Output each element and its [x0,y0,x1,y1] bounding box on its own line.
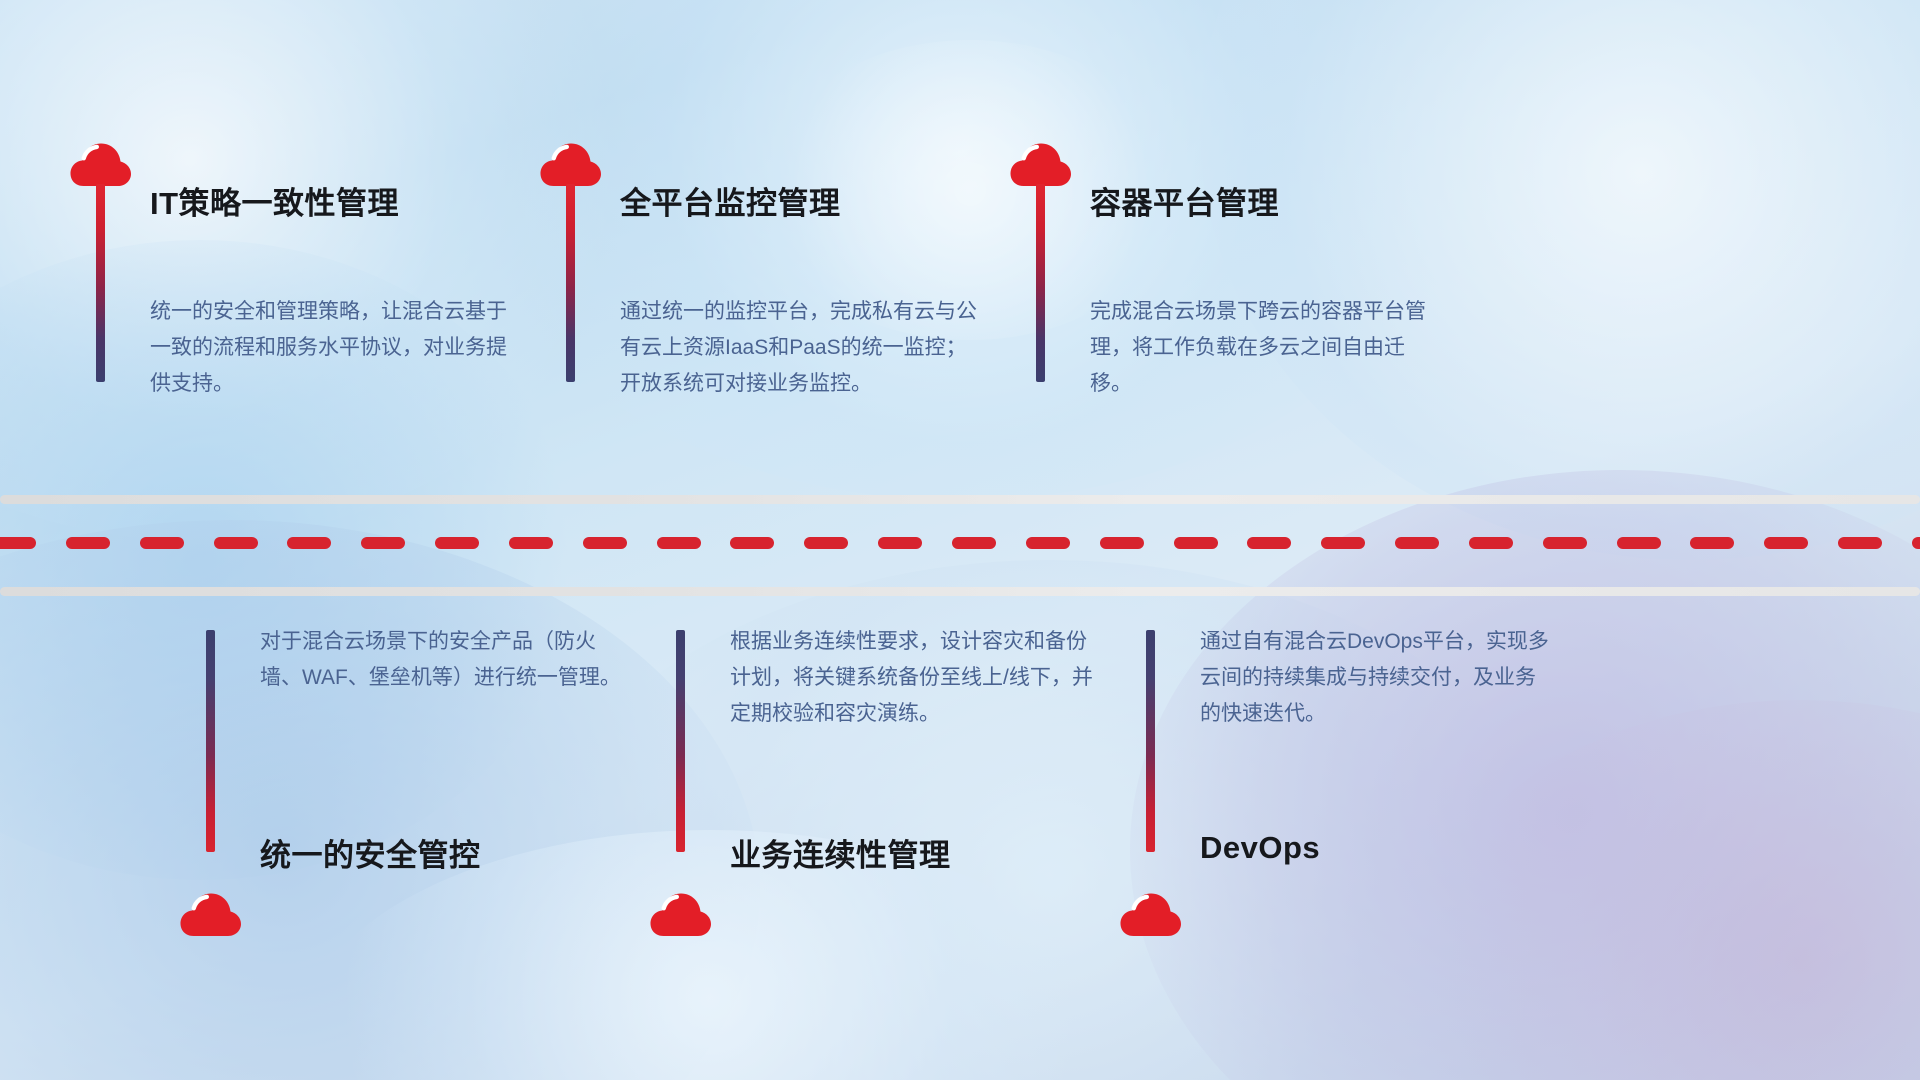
infographic-canvas: IT策略一致性管理 统一的安全和管理策略，让混合云基于一致的流程和服务水平协议，… [0,0,1920,1080]
divider [0,487,1920,597]
background-blob [1420,700,1920,1080]
cloud-icon [180,890,242,938]
cloud-icon [650,890,712,938]
feature-description: 对于混合云场景下的安全产品（防火墙、WAF、堡垒机等）进行统一管理。 [260,624,626,696]
divider-dash [1100,537,1144,549]
divider-dash [0,537,36,549]
divider-dash [1764,537,1808,549]
divider-dash [1247,537,1291,549]
feature-description: 通过统一的监控平台，完成私有云与公有云上资源IaaS和PaaS的统一监控；开放系… [620,294,986,402]
background-blob [1200,0,1920,560]
divider-dash [140,537,184,549]
feature-description: 统一的安全和管理策略，让混合云基于一致的流程和服务水平协议，对业务提供支持。 [150,294,516,402]
divider-dash [1912,537,1920,549]
feature-description: 通过自有混合云DevOps平台，实现多云间的持续集成与持续交付，及业务的快速迭代… [1200,624,1556,732]
background-blob [0,520,760,1080]
connector-stem [1146,630,1155,852]
divider-dash [214,537,258,549]
divider-dash [583,537,627,549]
feature-title: 统一的安全管控 [260,830,481,875]
background-blob [460,0,1460,500]
connector-stem [206,630,215,852]
divider-rule-bottom [0,587,1920,596]
divider-dash [361,537,405,549]
feature-description: 完成混合云场景下跨云的容器平台管理，将工作负载在多云之间自由迁移。 [1090,294,1446,402]
divider-rule-top [0,495,1920,504]
divider-dash [804,537,848,549]
feature-title: 全平台监控管理 [620,178,841,223]
divider-dash [878,537,922,549]
divider-dash [1617,537,1661,549]
divider-dash [1690,537,1734,549]
cloud-icon [1120,890,1182,938]
divider-dash [657,537,701,549]
cloud-icon [70,140,132,188]
feature-title: IT策略一致性管理 [150,178,399,223]
divider-dash [435,537,479,549]
feature-title: 容器平台管理 [1090,178,1279,223]
connector-stem [676,630,685,852]
connector-stem [96,184,105,382]
divider-dash [1321,537,1365,549]
divider-dash [287,537,331,549]
cloud-icon [540,140,602,188]
connector-stem [566,184,575,382]
divider-dash [509,537,553,549]
divider-dash [1543,537,1587,549]
divider-dash [1174,537,1218,549]
connector-stem [1036,184,1045,382]
divider-dash [1838,537,1882,549]
cloud-icon [1010,140,1072,188]
divider-dash [1026,537,1070,549]
feature-description: 根据业务连续性要求，设计容灾和备份计划，将关键系统备份至线上/线下，并定期校验和… [730,624,1096,732]
divider-dash [952,537,996,549]
divider-dash [730,537,774,549]
divider-dash [66,537,110,549]
feature-title: 业务连续性管理 [730,830,951,875]
feature-title: DevOps [1200,830,1320,866]
divider-dash [1395,537,1439,549]
divider-dash [1469,537,1513,549]
